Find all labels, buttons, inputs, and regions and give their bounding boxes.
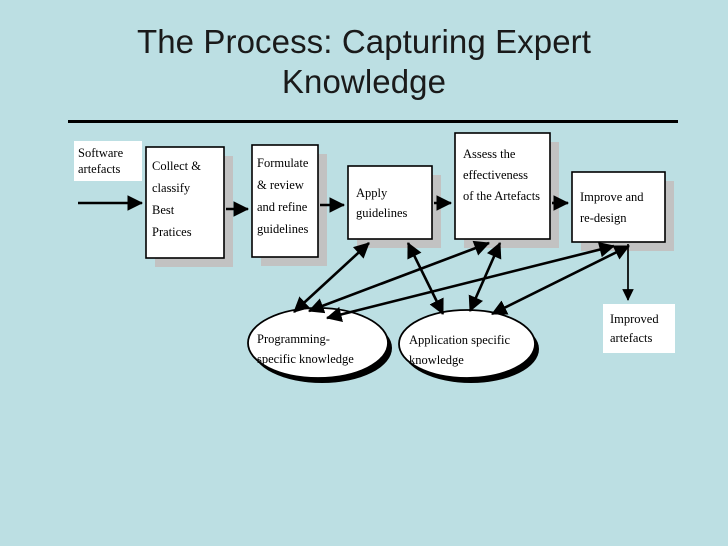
edge-apply-guidelines-to-application-knowledge (408, 243, 443, 314)
process-flowchart: Software artefacts Collect & classify Be… (0, 0, 728, 546)
edge-improve-redesign-to-application-knowledge (492, 246, 629, 314)
node-improve-redesign[interactable] (572, 172, 665, 242)
node-apply-guidelines[interactable] (348, 166, 432, 239)
slide-canvas: The Process: Capturing Expert Knowledge (0, 0, 728, 546)
